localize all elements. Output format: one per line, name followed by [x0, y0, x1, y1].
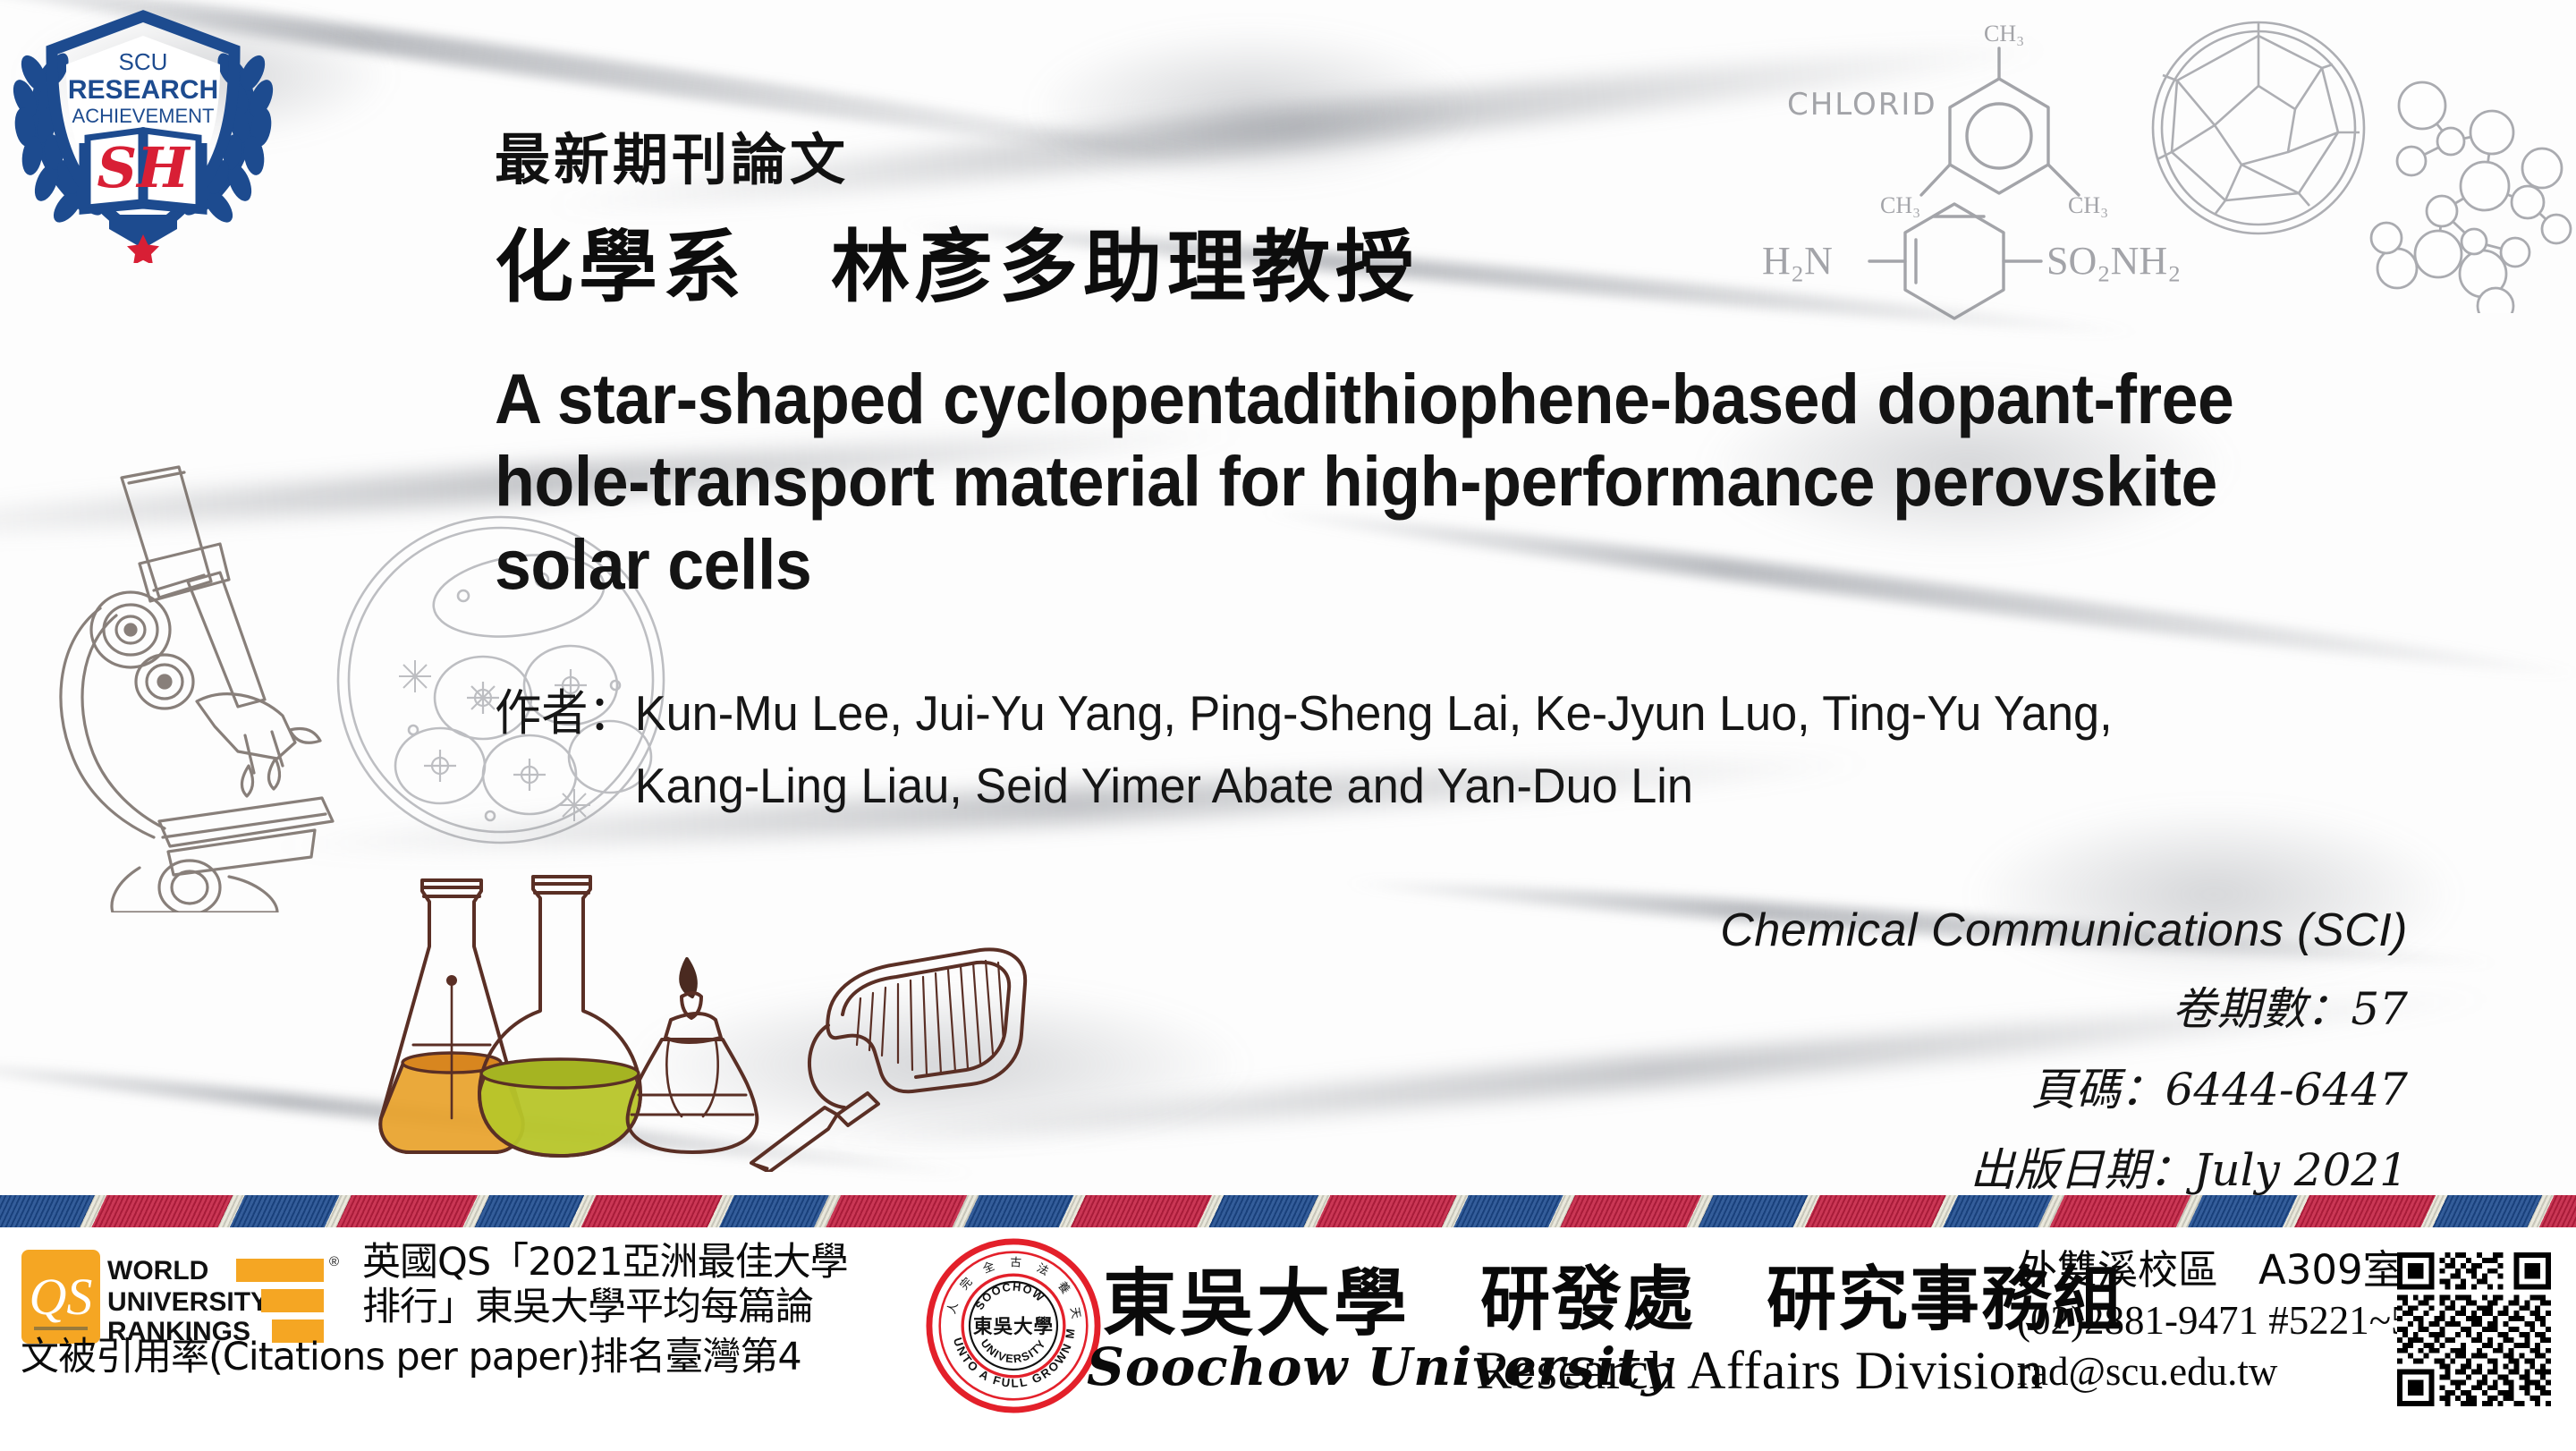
seal-inner-cn: 東吳大學 [973, 1316, 1054, 1338]
soochow-university-seal: 人 完 全 古 法 養 天 地 正 氣 UNTO A FULL GROWN MA… [926, 1238, 1101, 1413]
journal-metadata: Chemical Communications (SCI) 卷期數：57 頁碼：… [1720, 904, 2408, 1199]
methyl-top-label: CH₃ [1984, 21, 2024, 47]
poster-root: SCU RESEARCH ACHIEVEMENT SH [0, 0, 2576, 1451]
svg-text:人 完 全 古 法 養 天 地 正 氣: 人 完 全 古 法 養 天 地 正 氣 [926, 1238, 1083, 1321]
contact-block: 外雙溪校區 A309室 (02)2881-9471 #5221~5 rad@sc… [2017, 1245, 2411, 1396]
emblem-monogram: SH [97, 135, 191, 200]
qs-world-university-rankings-logo: QS WORLD UNIVERSITY RANKINGS ® [21, 1250, 339, 1344]
qs-mark: QS [30, 1268, 93, 1326]
journal-date: 出版日期：July 2021 [1720, 1134, 2408, 1199]
qr-code[interactable] [2397, 1252, 2551, 1406]
authors-line-2: Kang-Ling Liau, Seid Yimer Abate and Yan… [495, 750, 2296, 822]
qs-logo-line2: UNIVERSITY [107, 1287, 268, 1317]
authors-block: 作者：Kun-Mu Lee, Jui-Yu Yang, Ping-Sheng L… [495, 677, 2296, 822]
emblem-line2: RESEARCH [68, 75, 218, 105]
qs-registered-mark: ® [329, 1254, 339, 1269]
molecule-model-sketch [2317, 27, 2576, 313]
methyl-left-label: CH₃ [1880, 192, 1920, 218]
scu-research-achievement-emblem: SCU RESEARCH ACHIEVEMENT SH [9, 4, 277, 263]
university-name-cn: 東吳大學 [1103, 1243, 1411, 1350]
methyl-right-label: CH₃ [2068, 192, 2108, 218]
sulfonamide-label: SO₂NH₂ [2046, 239, 2181, 283]
qs-ranking-note: 英國QS「2021亞洲最佳大學 排行」東吳大學平均每篇論 文被引用率(Citat… [362, 1240, 899, 1330]
authors-label: 作者： [495, 684, 635, 742]
contact-phone: (02)2881-9471 #5221~5 [2017, 1295, 2411, 1345]
contact-email[interactable]: rad@scu.edu.tw [2017, 1346, 2411, 1396]
amine-label: H₂N [1762, 239, 1833, 283]
kicker-latest-journal-paper: 最新期刊論文 [495, 115, 849, 195]
decorative-stripe-divider [0, 1195, 2576, 1227]
qs-logo-line1: WORLD [107, 1256, 208, 1286]
contact-address: 外雙溪校區 A309室 [2017, 1245, 2411, 1295]
lab-glassware-sketch [331, 850, 1046, 1172]
qs-note-line-2: 排行」東吳大學平均每篇論 [362, 1285, 899, 1329]
emblem-line3: ACHIEVEMENT [72, 105, 215, 127]
journal-name: Chemical Communications (SCI) [1720, 904, 2408, 957]
qs-note-line-3: 文被引用率(Citations per paper)排名臺灣第4 [21, 1335, 915, 1379]
footer-bar: QS WORLD UNIVERSITY RANKINGS ® 英國QS「2021… [0, 1227, 2576, 1451]
chlorid-label: CHLORID [1787, 87, 1937, 123]
qs-note-line-1: 英國QS「2021亞洲最佳大學 [362, 1240, 899, 1285]
division-name-en: Research Affairs Division [1476, 1340, 2044, 1402]
seal-outer-cn: 人 完 全 古 法 養 天 地 正 氣 [926, 1238, 1083, 1321]
journal-volume: 卷期數：57 [1720, 973, 2408, 1038]
authors-line-1: Kun-Mu Lee, Jui-Yu Yang, Ping-Sheng Lai,… [635, 685, 2113, 741]
microscope-sketch [54, 447, 429, 912]
journal-pages: 頁碼：6444-6447 [1720, 1054, 2408, 1118]
emblem-line1: SCU [119, 48, 168, 75]
paper-title: A star-shaped cyclopentadithiophene-base… [495, 358, 2258, 606]
department-and-professor: 化學系 林彥多助理教授 [495, 204, 1419, 318]
